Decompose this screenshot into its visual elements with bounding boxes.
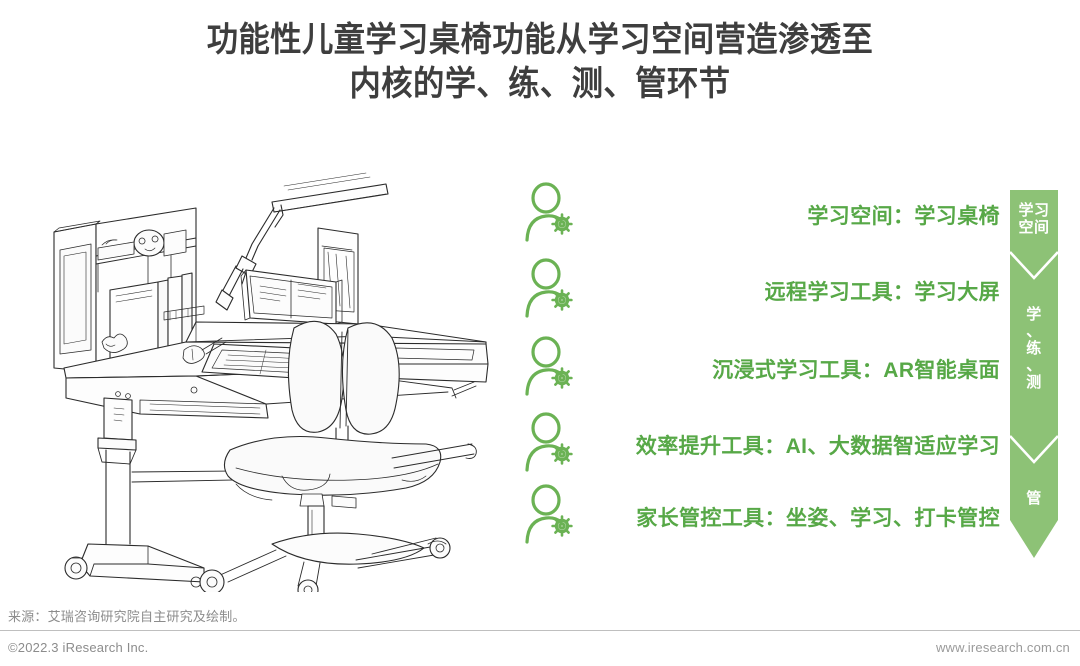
list-item-label: 家长管控工具：坐姿、学习、打卡管控 [636,502,1000,532]
stage-label-space: 学习空间 [1010,202,1058,236]
desk-drawer [66,376,268,418]
page-title-line-2: 内核的学、练、测、管环节 [43,62,1037,106]
stage-label-learn-practice-test: 学、练、测 [1010,306,1058,391]
feature-list: 学习空间：学习桌椅 远程学习工具：学习大屏 [520,182,1010,562]
study-desk-and-chair-illustration [36,172,526,592]
list-item[interactable]: 家长管控工具：坐姿、学习、打卡管控 [520,484,1010,550]
desk-leg-column [98,398,136,544]
list-item-label: 沉浸式学习工具：AR智能桌面 [712,354,1000,384]
person-gear-icon [524,258,578,320]
source-note: 来源：艾瑞咨询研究院自主研究及绘制。 [8,606,246,625]
person-gear-icon [524,484,578,546]
list-item[interactable]: 远程学习工具：学习大屏 [520,258,1010,324]
person-gear-icon [524,182,578,244]
list-item-label: 效率提升工具：AI、大数据智适应学习 [636,430,1000,460]
desk-foot-left [65,544,204,587]
page-title: 功能性儿童学习桌椅功能从学习空间营造渗透至 内核的学、练、测、管环节 [0,18,1080,106]
copyright-text: ©2022.3 iResearch Inc. [8,640,148,655]
hutch-left-panel [54,221,100,372]
list-item-label: 学习空间：学习桌椅 [807,200,1000,230]
stage-progress-arrow: 学习空间 学、练、测 管 [1010,190,1058,558]
footer-divider [0,630,1080,631]
list-item[interactable]: 沉浸式学习工具：AR智能桌面 [520,336,1010,402]
list-item[interactable]: 效率提升工具：AI、大数据智适应学习 [520,412,1010,478]
website-url: www.iresearch.com.cn [936,640,1070,655]
page-title-line-1: 功能性儿童学习桌椅功能从学习空间营造渗透至 [43,18,1037,62]
person-gear-icon [524,412,578,474]
person-gear-icon [524,336,578,398]
stage-label-manage: 管 [1010,490,1058,507]
list-item-label: 远程学习工具：学习大屏 [765,276,1000,306]
list-item[interactable]: 学习空间：学习桌椅 [520,182,1010,248]
